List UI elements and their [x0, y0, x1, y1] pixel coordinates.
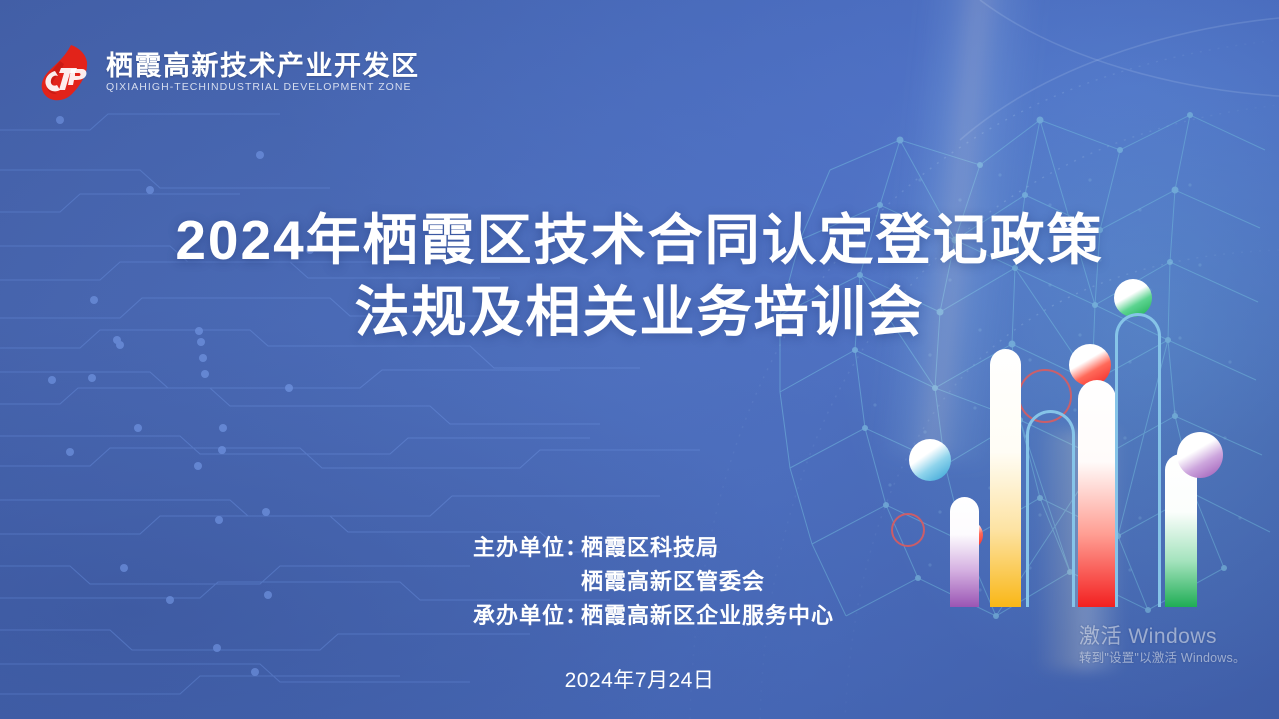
organization-logo: 栖霞高新技术产业开发区 QIXIAHIGH-TECHINDUSTRIAL DEV… [38, 44, 420, 102]
logo-text-block: 栖霞高新技术产业开发区 QIXIAHIGH-TECHINDUSTRIAL DEV… [106, 52, 420, 94]
bar-yellow [990, 349, 1021, 607]
logo-chinese-name: 栖霞高新技术产业开发区 [106, 52, 420, 80]
bar-outline-1 [1026, 410, 1075, 607]
bar-outline-2 [1115, 313, 1161, 607]
logo-english-name: QIXIAHIGH-TECHINDUSTRIAL DEVELOPMENT ZON… [106, 82, 420, 94]
ring-red-sm-icon [891, 513, 925, 547]
sphere-green-icon [1114, 279, 1152, 317]
sphere-cyan-icon [909, 439, 951, 481]
sphere-purple-icon [1177, 432, 1223, 478]
bar-chart-decoration [880, 260, 1279, 670]
bar-purple [950, 497, 979, 607]
presentation-slide: 栖霞高新技术产业开发区 QIXIAHIGH-TECHINDUSTRIAL DEV… [0, 0, 1279, 719]
bar-red [1078, 380, 1116, 607]
sphere-red-icon [1069, 344, 1111, 386]
flame-ctp-logo-icon [38, 44, 92, 102]
